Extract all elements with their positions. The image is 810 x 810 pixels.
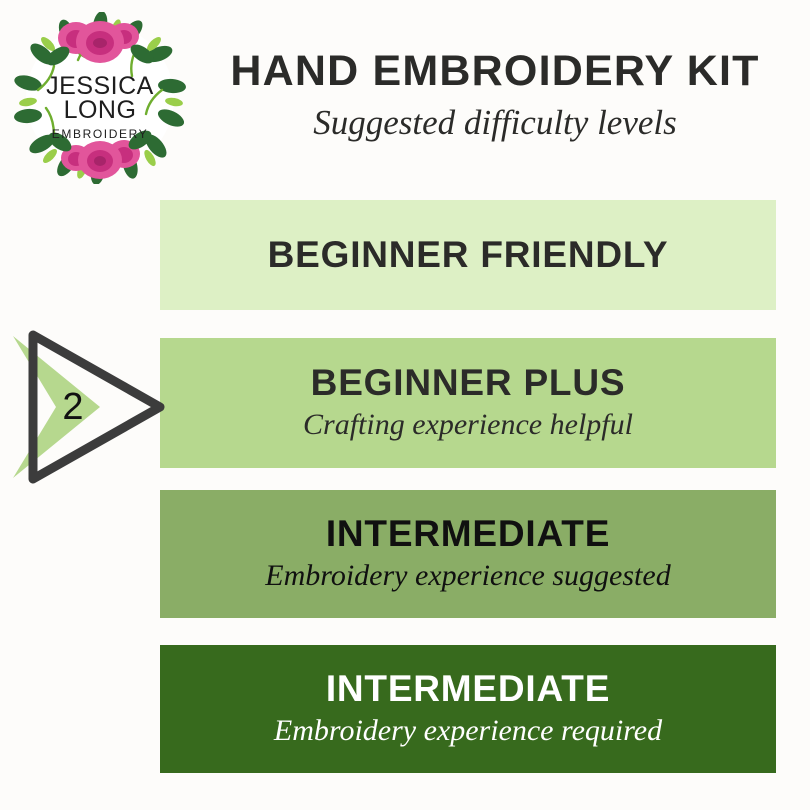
arrow-right-marker [4, 326, 170, 488]
level-label: BEGINNER FRIENDLY [268, 235, 669, 276]
level-label: INTERMEDIATE [326, 514, 610, 555]
difficulty-level-row[interactable]: INTERMEDIATE Embroidery experience requi… [160, 645, 776, 773]
difficulty-levels-list: BEGINNER FRIENDLY BEGINNER PLUS Crafting… [0, 0, 810, 810]
difficulty-level-row[interactable]: BEGINNER FRIENDLY [160, 200, 776, 310]
level-description: Embroidery experience suggested [265, 559, 670, 594]
level-label: BEGINNER PLUS [311, 363, 626, 404]
difficulty-level-row[interactable]: BEGINNER PLUS Crafting experience helpfu… [160, 338, 776, 468]
marker-chevron-fill [13, 336, 100, 478]
level-description: Crafting experience helpful [303, 408, 633, 443]
level-label: INTERMEDIATE [326, 669, 610, 710]
level-description: Embroidery experience required [274, 714, 662, 749]
selected-level-marker: 2 [4, 326, 170, 488]
difficulty-level-row[interactable]: INTERMEDIATE Embroidery experience sugge… [160, 490, 776, 618]
